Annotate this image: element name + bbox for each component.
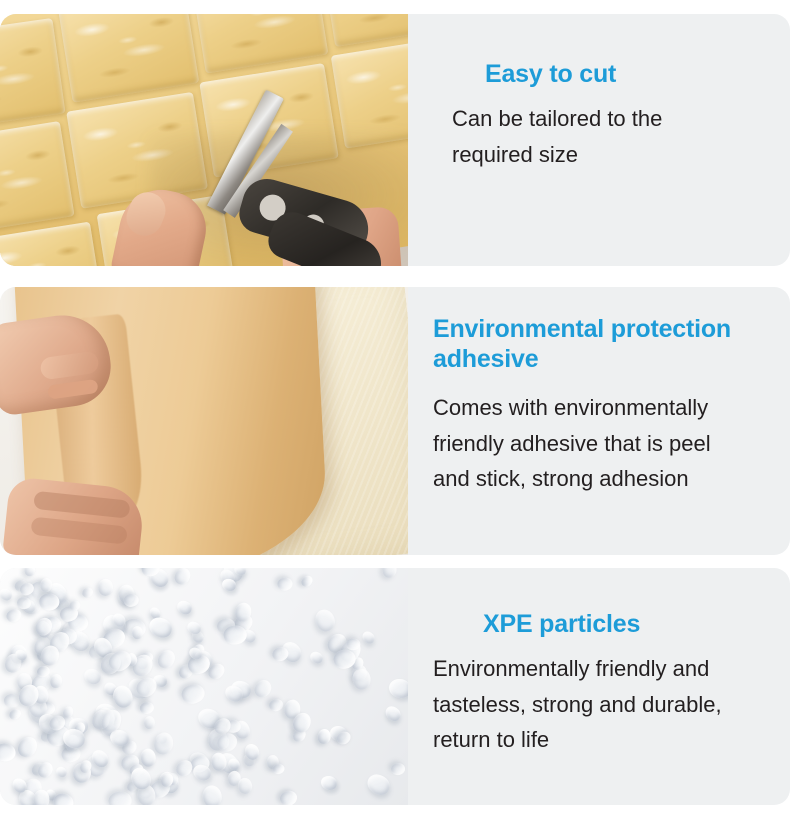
panel-heading: Easy to cut	[485, 60, 616, 90]
panel-body: Can be tailored to the required size	[452, 101, 752, 172]
feature-text-column: Environmental protection adhesive Comes …	[408, 287, 790, 555]
panel-heading: XPE particles	[483, 610, 640, 640]
feature-panel-xpe-particles: XPE particles Environmentally friendly a…	[0, 568, 790, 805]
panel-heading: Environmental protection adhesive	[433, 315, 790, 374]
feature-panel-environmental-protection-adhesive: Environmental protection adhesive Comes …	[0, 287, 790, 555]
feature-panel-easy-to-cut: Easy to cut Can be tailored to the requi…	[0, 14, 790, 266]
clear-xpe-plastic-pellets-image	[0, 568, 408, 805]
panel-body: Comes with environmentally friendly adhe…	[433, 390, 790, 497]
feature-text-column: XPE particles Environmentally friendly a…	[408, 568, 790, 805]
foam-brick-panel-being-cut-with-scissors-image	[0, 14, 408, 266]
feature-panels-sheet: Easy to cut Can be tailored to the requi…	[0, 0, 790, 816]
feature-text-column: Easy to cut Can be tailored to the requi…	[408, 14, 790, 266]
panel-body: Environmentally friendly and tasteless, …	[433, 651, 783, 758]
peeling-adhesive-backing-from-foam-sheet-image	[0, 287, 408, 555]
